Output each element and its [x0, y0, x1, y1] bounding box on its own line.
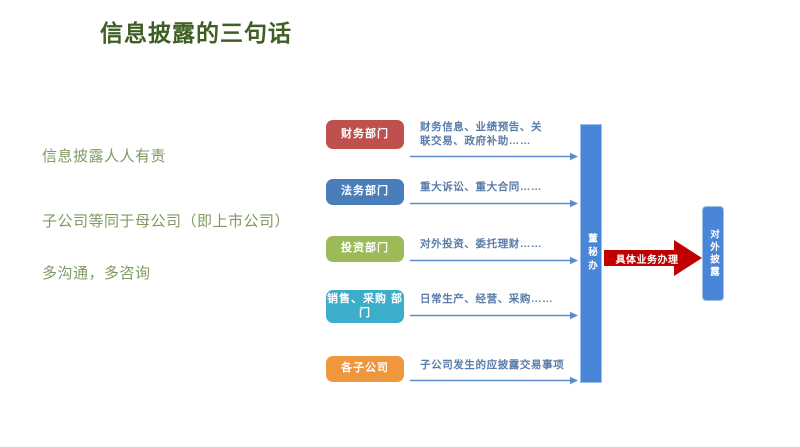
- flow-description-subsidiaries: 子公司发生的应披露交易事项: [420, 358, 564, 372]
- flow-arrow-finance-icon: [410, 152, 578, 161]
- dept-box-investment[interactable]: 投资部门: [326, 236, 404, 262]
- key-point-2: 子公司等同于母公司（即上市公司）: [42, 210, 290, 231]
- flow-arrow-sales-procurement-icon: [410, 311, 578, 320]
- outcome-box-public-disclosure[interactable]: 对外披露: [702, 206, 724, 301]
- process-arrow-label: 具体业务办理: [604, 238, 690, 278]
- flow-arrow-investment-icon: [410, 256, 578, 265]
- key-point-3: 多沟通，多咨询: [42, 262, 151, 283]
- page-title: 信息披露的三句话: [100, 14, 292, 48]
- key-point-1: 信息披露人人有责: [42, 145, 166, 166]
- dept-box-sales-procurement[interactable]: 销售、采购 部门: [326, 290, 404, 323]
- flow-description-sales-procurement: 日常生产、经营、采购……: [420, 292, 553, 306]
- flow-arrow-legal-icon: [410, 199, 578, 208]
- flow-description-investment: 对外投资、委托理财……: [420, 237, 542, 251]
- flow-description-legal: 重大诉讼、重大合同……: [420, 180, 542, 194]
- dept-box-legal[interactable]: 法务部门: [326, 179, 404, 205]
- flow-description-finance: 财务信息、业绩预告、关 联交易、政府补助……: [420, 120, 542, 148]
- process-arrow-group[interactable]: 具体业务办理: [604, 238, 702, 278]
- hub-board-secretary-office[interactable]: 董秘办: [580, 124, 602, 383]
- dept-box-subsidiaries[interactable]: 各子公司: [326, 356, 404, 382]
- flow-arrow-subsidiaries-icon: [410, 376, 578, 385]
- slide-canvas: 信息披露的三句话 信息披露人人有责 子公司等同于母公司（即上市公司） 多沟通，多…: [0, 0, 800, 447]
- dept-box-finance[interactable]: 财务部门: [326, 120, 404, 149]
